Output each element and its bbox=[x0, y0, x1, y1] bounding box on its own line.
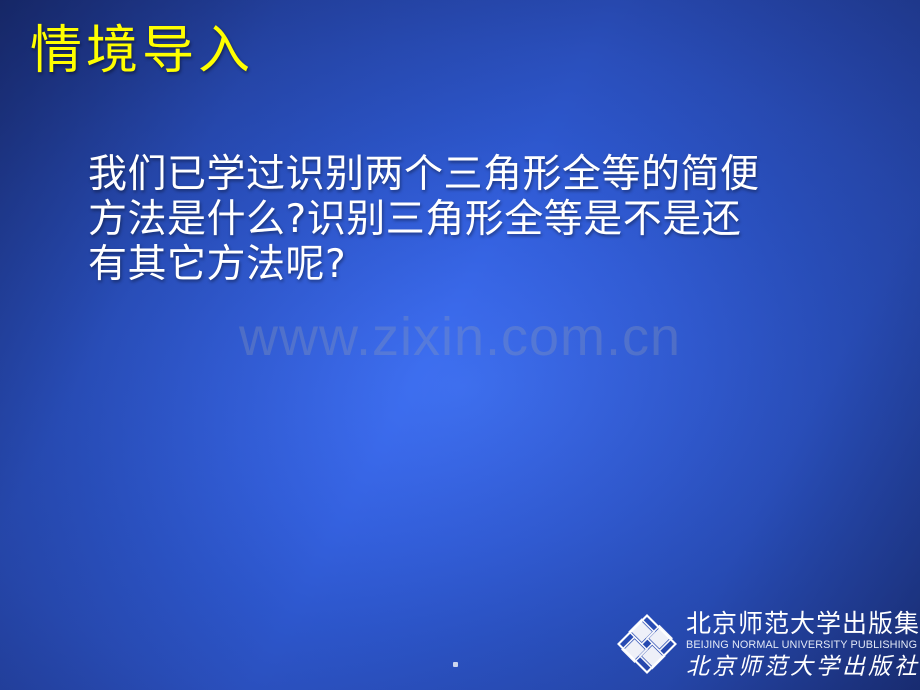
publisher-name-cn-press: 北京师范大学出版社 bbox=[686, 652, 920, 681]
page-marker-dot bbox=[453, 662, 458, 667]
presentation-slide: www.zixin.com.cn 情境导入 我们已学过识别两个三角形全等的简便 … bbox=[0, 0, 920, 690]
body-line-1: 我们已学过识别两个三角形全等的简便 bbox=[88, 152, 808, 197]
site-watermark: www.zixin.com.cn bbox=[0, 306, 920, 368]
publisher-name-cn-group: 北京师范大学出版集团 bbox=[686, 610, 920, 638]
publisher-logo-text: 北京师范大学出版集团 BEIJING NORMAL UNIVERSITY PUB… bbox=[686, 608, 920, 681]
four-diamond-emblem-icon bbox=[614, 611, 680, 677]
publisher-name-en: BEIJING NORMAL UNIVERSITY PUBLISHING GRO… bbox=[686, 638, 920, 652]
slide-title: 情境导入 bbox=[30, 22, 254, 82]
publisher-logo: 北京师范大学出版集团 BEIJING NORMAL UNIVERSITY PUB… bbox=[614, 600, 916, 688]
body-line-3: 有其它方法呢? bbox=[88, 242, 808, 287]
slide-body-text: 我们已学过识别两个三角形全等的简便 方法是什么?识别三角形全等是不是还 有其它方… bbox=[88, 152, 808, 287]
body-line-2: 方法是什么?识别三角形全等是不是还 bbox=[88, 197, 808, 242]
